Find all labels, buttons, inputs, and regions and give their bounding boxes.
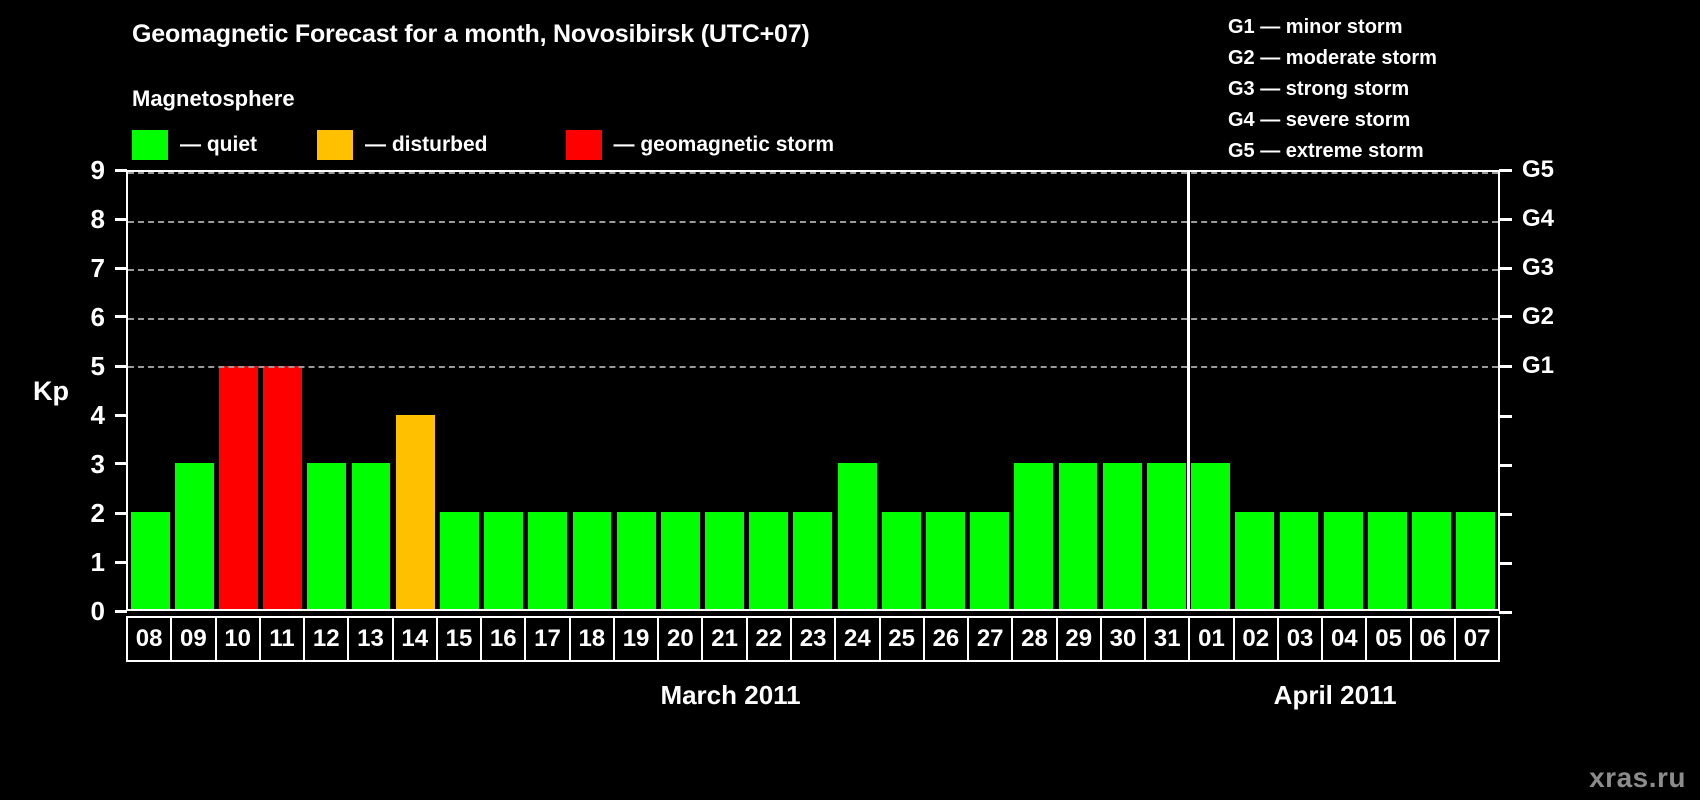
legend-swatch-storm — [566, 130, 602, 160]
day-label-13[interactable]: 13 — [349, 618, 393, 660]
day-label-18[interactable]: 18 — [571, 618, 615, 660]
bar-cell-11[interactable] — [261, 172, 305, 609]
y-tick-label-3: 3 — [91, 451, 105, 477]
day-label-07[interactable]: 07 — [1456, 618, 1498, 660]
gridline-kp-9 — [128, 172, 1498, 174]
bar-27-kp-2[interactable] — [970, 512, 1009, 609]
bar-cell-21[interactable] — [702, 172, 746, 609]
legend-item-quiet: — quiet — [132, 130, 257, 160]
day-label-16[interactable]: 16 — [482, 618, 526, 660]
chart-subtitle: Magnetosphere — [132, 86, 295, 112]
day-label-26[interactable]: 26 — [925, 618, 969, 660]
day-label-15[interactable]: 15 — [438, 618, 482, 660]
day-label-19[interactable]: 19 — [615, 618, 659, 660]
bar-02-kp-2[interactable] — [1235, 512, 1274, 609]
bar-21-kp-2[interactable] — [705, 512, 744, 609]
day-label-21[interactable]: 21 — [703, 618, 747, 660]
legend-label-disturbed: — disturbed — [365, 133, 488, 157]
bar-20-kp-2[interactable] — [661, 512, 700, 609]
legend-label-quiet: — quiet — [180, 133, 257, 157]
month-caption-march: March 2011 — [660, 680, 800, 711]
y-tick-label-0: 0 — [91, 598, 105, 624]
right-tick-label-G1: G1 — [1522, 354, 1554, 378]
bar-12-kp-3[interactable] — [307, 463, 346, 609]
bar-cell-27[interactable] — [968, 172, 1012, 609]
right-tick-mark-kp-1 — [1499, 562, 1512, 565]
bar-cell-09[interactable] — [172, 172, 216, 609]
day-label-03[interactable]: 03 — [1279, 618, 1323, 660]
bar-cell-30[interactable] — [1100, 172, 1144, 609]
bar-cell-22[interactable] — [747, 172, 791, 609]
day-label-29[interactable]: 29 — [1058, 618, 1102, 660]
bar-cell-07[interactable] — [1454, 172, 1498, 609]
bar-cell-14[interactable] — [393, 172, 437, 609]
bar-cell-18[interactable] — [570, 172, 614, 609]
y-tick-label-2: 2 — [91, 500, 105, 526]
bar-04-kp-2[interactable] — [1324, 512, 1363, 609]
storm-scale-line-g3: G3 — strong storm — [1228, 74, 1437, 105]
bar-cell-05[interactable] — [1365, 172, 1409, 609]
right-tick-mark-kp-0 — [1499, 611, 1512, 614]
bar-cell-04[interactable] — [1321, 172, 1365, 609]
bar-cell-28[interactable] — [1012, 172, 1056, 609]
bar-06-kp-2[interactable] — [1412, 512, 1451, 609]
legend-swatch-disturbed — [317, 130, 353, 160]
bar-31-kp-3[interactable] — [1147, 463, 1186, 609]
y-tick-label-1: 1 — [91, 549, 105, 575]
page-title: Geomagnetic Forecast for a month, Novosi… — [132, 20, 810, 49]
bar-09-kp-3[interactable] — [175, 463, 214, 609]
day-label-20[interactable]: 20 — [659, 618, 703, 660]
bar-23-kp-2[interactable] — [793, 512, 832, 609]
day-label-17[interactable]: 17 — [526, 618, 570, 660]
bar-cell-20[interactable] — [658, 172, 702, 609]
right-tick-label-G5: G5 — [1522, 158, 1554, 182]
right-tick-mark-G4 — [1499, 218, 1512, 221]
right-tick-mark-kp-2 — [1499, 513, 1512, 516]
day-label-31[interactable]: 31 — [1146, 618, 1190, 660]
plot-area — [126, 170, 1500, 611]
bar-cell-31[interactable] — [1144, 172, 1188, 609]
storm-scale-line-g5: G5 — extreme storm — [1228, 136, 1437, 167]
day-label-05[interactable]: 05 — [1367, 618, 1411, 660]
day-label-02[interactable]: 02 — [1235, 618, 1279, 660]
day-label-30[interactable]: 30 — [1102, 618, 1146, 660]
right-tick-label-G3: G3 — [1522, 256, 1554, 280]
bar-cell-13[interactable] — [349, 172, 393, 609]
bar-15-kp-2[interactable] — [440, 512, 479, 609]
geomagnetic-forecast-chart: Geomagnetic Forecast for a month, Novosi… — [0, 0, 1700, 800]
day-label-27[interactable]: 27 — [969, 618, 1013, 660]
day-label-22[interactable]: 22 — [748, 618, 792, 660]
day-label-28[interactable]: 28 — [1013, 618, 1057, 660]
day-label-01[interactable]: 01 — [1190, 618, 1234, 660]
bar-01-kp-3[interactable] — [1191, 463, 1230, 609]
right-axis-storm-scale: G1G2G3G4G5 — [1500, 170, 1580, 611]
bar-14-kp-4[interactable] — [396, 415, 435, 609]
bar-cell-10[interactable] — [216, 172, 260, 609]
right-tick-mark-G1 — [1499, 365, 1512, 368]
legend-item-storm: — geomagnetic storm — [566, 130, 835, 160]
y-tick-label-8: 8 — [91, 206, 105, 232]
legend-label-storm: — geomagnetic storm — [614, 133, 835, 157]
bar-30-kp-3[interactable] — [1103, 463, 1142, 609]
day-label-24[interactable]: 24 — [836, 618, 880, 660]
bar-cell-15[interactable] — [437, 172, 481, 609]
bar-cell-08[interactable] — [128, 172, 172, 609]
bar-11-kp-5[interactable] — [263, 366, 302, 609]
right-tick-label-G4: G4 — [1522, 207, 1554, 231]
bar-03-kp-2[interactable] — [1280, 512, 1319, 609]
bar-cell-01[interactable] — [1189, 172, 1233, 609]
storm-scale-legend: G1 — minor stormG2 — moderate stormG3 — … — [1228, 12, 1437, 167]
gridline-kp-7 — [128, 269, 1498, 271]
storm-scale-line-g4: G4 — severe storm — [1228, 105, 1437, 136]
day-label-14[interactable]: 14 — [394, 618, 438, 660]
day-label-11[interactable]: 11 — [261, 618, 305, 660]
bar-25-kp-2[interactable] — [882, 512, 921, 609]
day-label-08[interactable]: 08 — [128, 618, 172, 660]
bar-cell-16[interactable] — [482, 172, 526, 609]
bar-17-kp-2[interactable] — [528, 512, 567, 609]
y-axis-title: Kp — [33, 376, 69, 407]
y-tick-label-6: 6 — [91, 304, 105, 330]
bar-cell-12[interactable] — [305, 172, 349, 609]
bar-26-kp-2[interactable] — [926, 512, 965, 609]
bar-05-kp-2[interactable] — [1368, 512, 1407, 609]
watermark: xras.ru — [1589, 762, 1686, 794]
bar-cell-02[interactable] — [1233, 172, 1277, 609]
right-tick-mark-G5 — [1499, 169, 1512, 172]
day-axis: 0809101112131415161718192021222324252627… — [126, 616, 1500, 662]
bar-24-kp-3[interactable] — [838, 463, 877, 609]
day-label-25[interactable]: 25 — [881, 618, 925, 660]
legend-swatch-quiet — [132, 130, 168, 160]
right-tick-mark-kp-4 — [1499, 415, 1512, 418]
bar-08-kp-2[interactable] — [131, 512, 170, 609]
bar-cell-06[interactable] — [1409, 172, 1453, 609]
bar-cell-23[interactable] — [791, 172, 835, 609]
day-label-04[interactable]: 04 — [1323, 618, 1367, 660]
bar-22-kp-2[interactable] — [749, 512, 788, 609]
bar-16-kp-2[interactable] — [484, 512, 523, 609]
bar-28-kp-3[interactable] — [1014, 463, 1053, 609]
right-tick-mark-G3 — [1499, 267, 1512, 270]
right-tick-mark-kp-3 — [1499, 464, 1512, 467]
bar-cell-29[interactable] — [1056, 172, 1100, 609]
bar-10-kp-5[interactable] — [219, 366, 258, 609]
month-divider — [1187, 172, 1190, 609]
bar-13-kp-3[interactable] — [352, 463, 391, 609]
storm-scale-line-g2: G2 — moderate storm — [1228, 43, 1437, 74]
bar-19-kp-2[interactable] — [617, 512, 656, 609]
y-tick-label-7: 7 — [91, 255, 105, 281]
gridline-kp-8 — [128, 221, 1498, 223]
right-tick-label-G2: G2 — [1522, 305, 1554, 329]
day-label-23[interactable]: 23 — [792, 618, 836, 660]
right-tick-mark-G2 — [1499, 315, 1512, 318]
bar-cell-25[interactable] — [879, 172, 923, 609]
day-label-12[interactable]: 12 — [305, 618, 349, 660]
bar-cell-26[interactable] — [923, 172, 967, 609]
y-tick-label-4: 4 — [91, 402, 105, 428]
bar-series — [128, 172, 1498, 609]
bar-07-kp-2[interactable] — [1456, 512, 1495, 609]
bar-18-kp-2[interactable] — [573, 512, 612, 609]
gridline-kp-5 — [128, 366, 1498, 368]
bar-cell-19[interactable] — [614, 172, 658, 609]
day-label-09[interactable]: 09 — [172, 618, 216, 660]
magnetosphere-legend: — quiet— disturbed— geomagnetic storm — [132, 130, 834, 160]
y-tick-label-9: 9 — [91, 157, 105, 183]
y-axis: 0123456789 — [70, 170, 126, 611]
month-caption-april: April 2011 — [1274, 680, 1397, 711]
legend-item-disturbed: — disturbed — [317, 130, 488, 160]
gridline-kp-6 — [128, 318, 1498, 320]
storm-scale-line-g1: G1 — minor storm — [1228, 12, 1437, 43]
day-label-06[interactable]: 06 — [1412, 618, 1456, 660]
bar-cell-17[interactable] — [526, 172, 570, 609]
bar-cell-03[interactable] — [1277, 172, 1321, 609]
bar-cell-24[interactable] — [835, 172, 879, 609]
bar-29-kp-3[interactable] — [1059, 463, 1098, 609]
y-tick-label-5: 5 — [91, 353, 105, 379]
day-label-10[interactable]: 10 — [217, 618, 261, 660]
